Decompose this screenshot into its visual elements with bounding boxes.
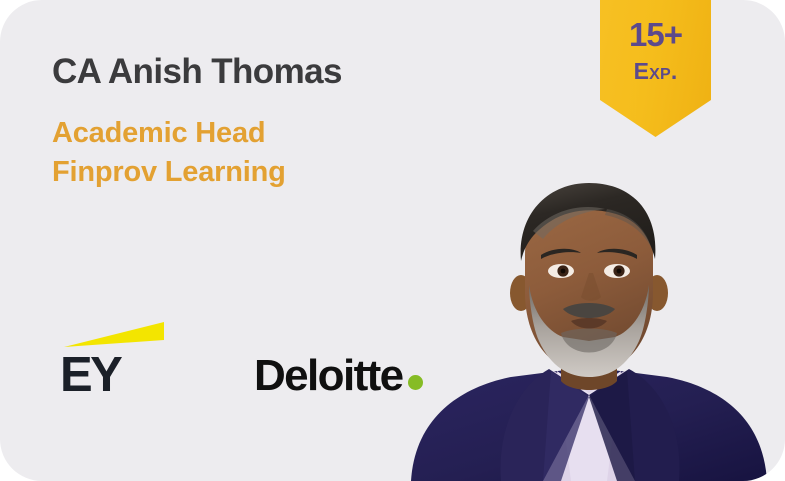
portrait-photo bbox=[393, 181, 785, 481]
deloitte-wordmark: Deloitte bbox=[254, 354, 403, 398]
role-line-1: Academic Head bbox=[52, 114, 572, 152]
ey-wordmark: EY bbox=[60, 351, 120, 400]
experience-ribbon-badge: 15+ Exp. bbox=[600, 0, 711, 137]
employer-logo-row: EY Deloitte bbox=[60, 322, 423, 400]
profile-card: CA Anish Thomas Academic Head Finprov Le… bbox=[0, 0, 785, 481]
ey-swoosh-icon bbox=[64, 322, 164, 348]
person-info-block: CA Anish Thomas Academic Head Finprov Le… bbox=[52, 52, 572, 191]
experience-label: Exp. bbox=[634, 60, 678, 83]
experience-years: 15+ bbox=[629, 18, 682, 51]
ey-logo: EY bbox=[60, 322, 170, 400]
role-block: Academic Head Finprov Learning bbox=[52, 114, 572, 191]
page-title: CA Anish Thomas bbox=[52, 52, 572, 92]
